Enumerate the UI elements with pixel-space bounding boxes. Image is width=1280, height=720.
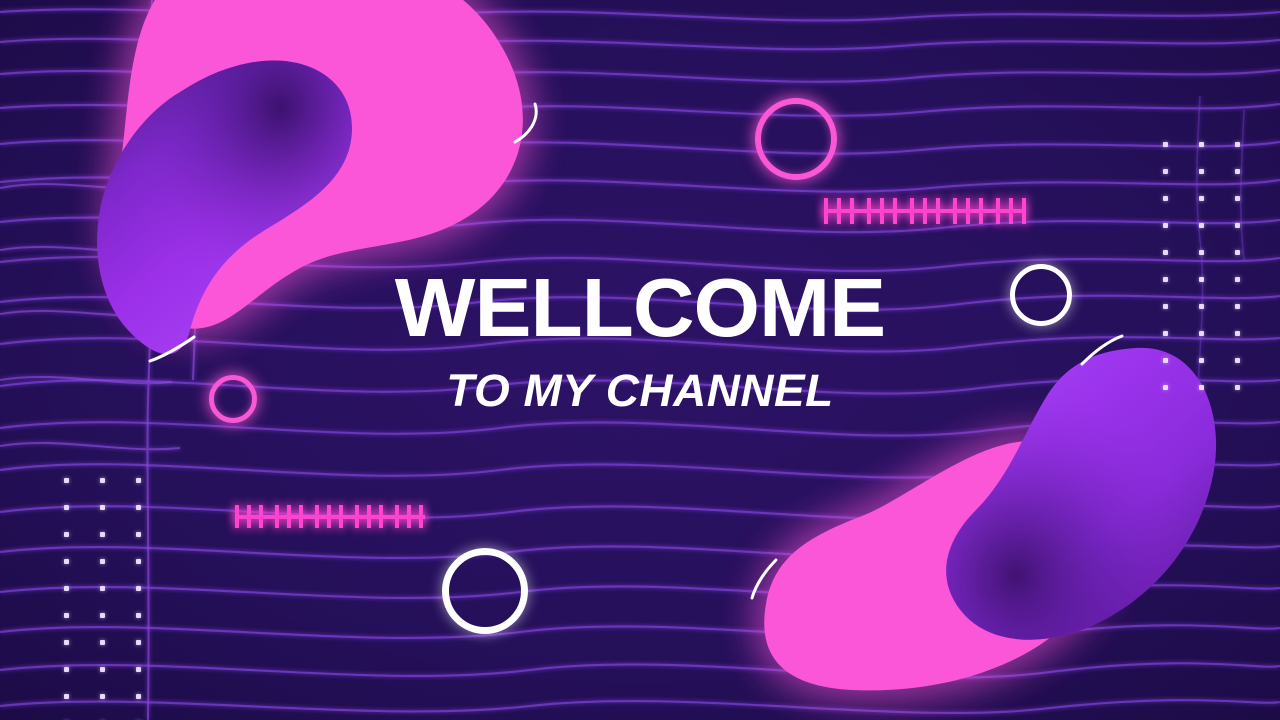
blob-pink-bottom-right	[764, 441, 1111, 690]
page-subtitle: TO MY CHANNEL	[0, 364, 1280, 418]
dot-grid-bottom-left	[64, 478, 147, 720]
headline-block: WELLCOME TO MY CHANNEL	[0, 262, 1280, 418]
tally-marks-bottom-left	[235, 505, 425, 528]
arc-accent-bottom-left	[748, 558, 782, 602]
tally-marks-top-right	[824, 198, 1024, 224]
page-title: WELLCOME	[0, 262, 1280, 354]
arc-accent-top-left	[505, 100, 547, 146]
ring-white-bottom-center	[442, 548, 528, 634]
promo-banner: WELLCOME TO MY CHANNEL	[0, 0, 1280, 720]
ring-pink-top-right	[755, 98, 837, 180]
